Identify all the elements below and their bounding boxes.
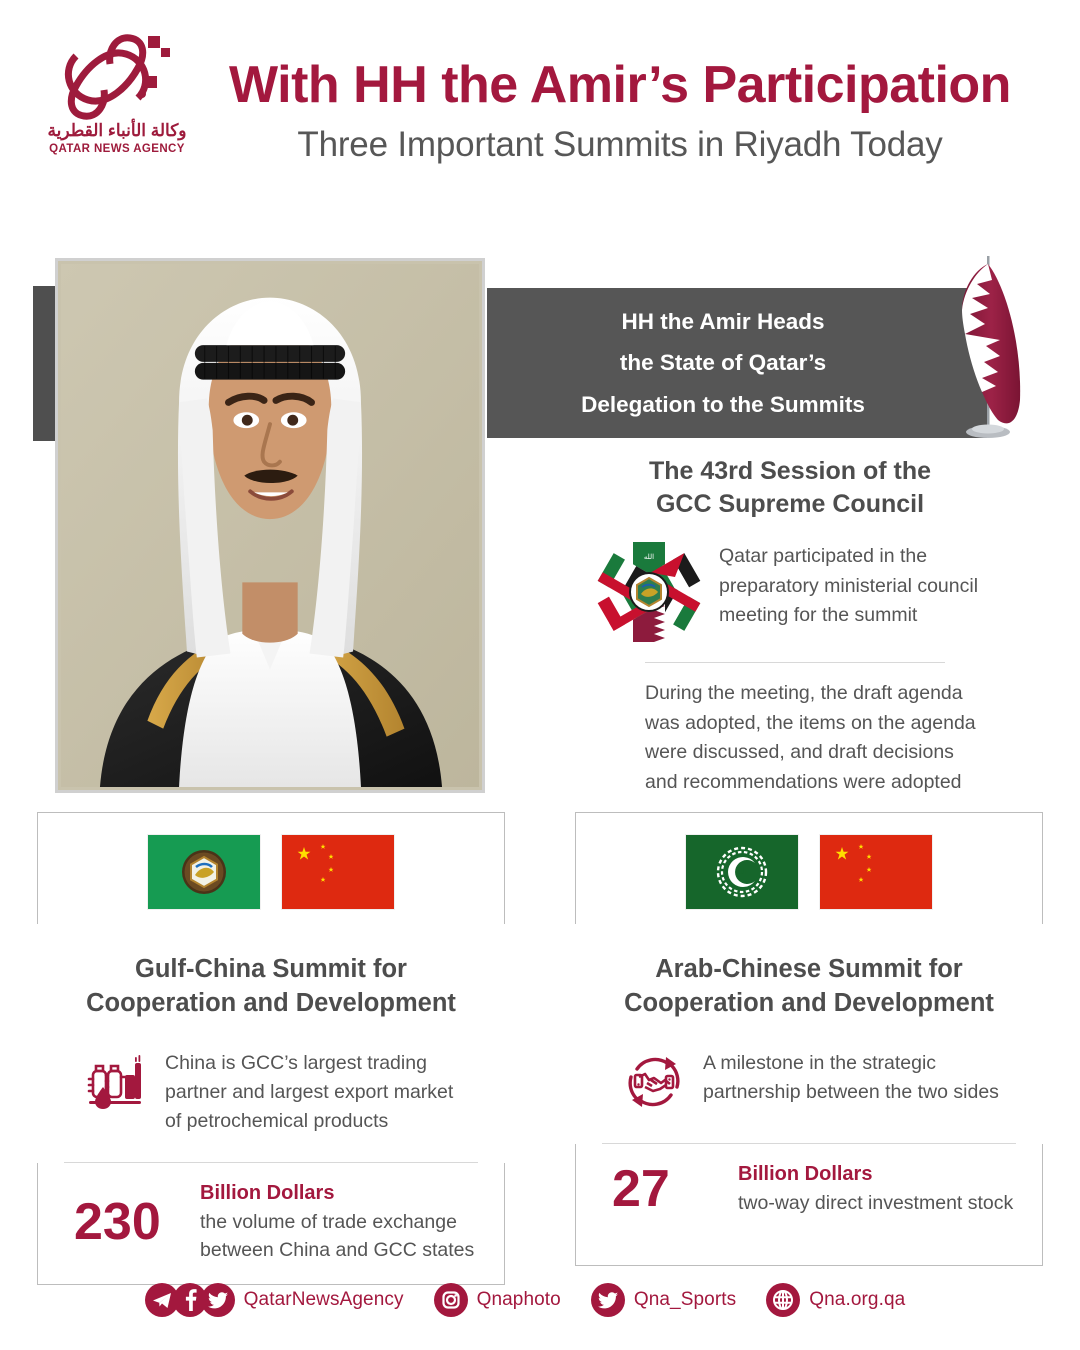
- social-icons: [145, 1283, 235, 1317]
- social-group-sports: Qna_Sports: [591, 1283, 766, 1317]
- card-feature: China is GCC’s largest trading partner a…: [37, 1049, 505, 1137]
- gcc-flag-icon: [148, 835, 260, 909]
- gcc-section-title: The 43rd Session of the GCC Supreme Coun…: [530, 455, 1050, 520]
- arab-league-flag-icon: الله: [686, 835, 798, 909]
- svg-text:الله: الله: [735, 867, 747, 876]
- banner-line-2: the State of Qatar’s: [581, 342, 865, 384]
- gcc-flags-emblem-icon: الله: [595, 538, 703, 646]
- card-top-border-box: [37, 812, 505, 924]
- card-feature-text: China is GCC’s largest trading partner a…: [165, 1049, 469, 1137]
- card-title-line-2: Cooperation and Development: [575, 986, 1043, 1020]
- social-group-website: Qna.org.qa: [766, 1283, 935, 1317]
- card-bottom-border-box: 230 Billion Dollars the volume of trade …: [37, 1163, 505, 1285]
- card-flags: [38, 835, 504, 909]
- twitter-icon[interactable]: [591, 1283, 625, 1317]
- gcc-paragraph: During the meeting, the draft agenda was…: [645, 679, 990, 798]
- page-header: وكالة الأنباء القطرية QATAR NEWS AGENCY …: [0, 0, 1080, 215]
- gcc-divider: [645, 662, 945, 663]
- qna-logo[interactable]: وكالة الأنباء القطرية QATAR NEWS AGENCY: [42, 28, 192, 155]
- card-top-border-box: الله: [575, 812, 1043, 924]
- banner-text: HH the Amir Heads the State of Qatar’s D…: [561, 301, 913, 426]
- page-subtitle: Three Important Summits in Riyadh Today: [200, 125, 1040, 165]
- social-group-instagram: Qnaphoto: [434, 1283, 591, 1317]
- qatar-flag-icon: [930, 250, 1050, 450]
- card-title: Arab-Chinese Summit for Cooperation and …: [575, 952, 1043, 1021]
- stat-label: Billion Dollars: [738, 1162, 1013, 1187]
- qatar-flag: [930, 250, 1050, 450]
- qna-atom-logo-icon: [42, 28, 192, 120]
- handshake-cycle-icon: [623, 1051, 685, 1118]
- instagram-icon[interactable]: [434, 1283, 468, 1317]
- social-icons: [766, 1283, 800, 1317]
- globe-icon[interactable]: [766, 1283, 800, 1317]
- card-bottom-border-box: 27 Billion Dollars two-way direct invest…: [575, 1144, 1043, 1266]
- stat-row: 27 Billion Dollars two-way direct invest…: [576, 1144, 1042, 1217]
- social-handle-qnaphoto[interactable]: Qnaphoto: [477, 1289, 561, 1311]
- stat-description: the volume of trade exchange between Chi…: [200, 1208, 480, 1265]
- stat-divider: [64, 1162, 478, 1163]
- stat-number: 27: [612, 1163, 716, 1215]
- stat-row: 230 Billion Dollars the volume of trade …: [38, 1163, 504, 1265]
- card-title-line-1: Gulf-China Summit for: [37, 952, 505, 986]
- summit-card-arab-chinese: الله Arab-Chinese Summit for Coope: [575, 812, 1043, 1285]
- card-title: Gulf-China Summit for Cooperation and De…: [37, 952, 505, 1021]
- gcc-title-line-1: The 43rd Session of the: [558, 455, 1022, 488]
- china-flag-icon: [282, 835, 394, 909]
- twitter-icon[interactable]: [201, 1283, 235, 1317]
- social-handle-qna-sports[interactable]: Qna_Sports: [634, 1289, 736, 1311]
- title-block: With HH the Amir’s Participation Three I…: [200, 58, 1040, 165]
- china-flag-icon: [820, 835, 932, 909]
- card-feature-text: A milestone in the strategic partnership…: [703, 1049, 1007, 1108]
- social-icons: [434, 1283, 468, 1317]
- stat-divider: [602, 1143, 1016, 1144]
- amir-heads-delegation-banner: HH the Amir Heads the State of Qatar’s D…: [487, 288, 987, 438]
- card-title-line-2: Cooperation and Development: [37, 986, 505, 1020]
- amir-portrait-frame: [55, 258, 485, 793]
- stat-description: two-way direct investment stock: [738, 1189, 1013, 1217]
- logo-arabic-name: وكالة الأنباء القطرية: [42, 122, 192, 141]
- gcc-title-line-2: GCC Supreme Council: [558, 488, 1022, 521]
- logo-english-name: QATAR NEWS AGENCY: [42, 143, 192, 155]
- gcc-supreme-council-section: The 43rd Session of the GCC Supreme Coun…: [530, 455, 1050, 798]
- banner-line-1: HH the Amir Heads: [581, 301, 865, 343]
- card-title-line-1: Arab-Chinese Summit for: [575, 952, 1043, 986]
- social-footer: QatarNewsAgency Qnaphoto Qna_Sports Qna.…: [0, 1283, 1080, 1317]
- summit-card-gulf-china: Gulf-China Summit for Cooperation and De…: [37, 812, 505, 1285]
- svg-text:الله: الله: [644, 553, 654, 561]
- stat-number: 230: [74, 1196, 178, 1248]
- social-handle-qatarnewsagency[interactable]: QatarNewsAgency: [244, 1289, 404, 1311]
- card-feature: A milestone in the strategic partnership…: [575, 1049, 1043, 1118]
- stat-label: Billion Dollars: [200, 1181, 480, 1206]
- social-group-main: QatarNewsAgency: [145, 1283, 434, 1317]
- card-flags: الله: [576, 835, 1042, 909]
- amir-portrait: [61, 264, 479, 787]
- social-handle-website[interactable]: Qna.org.qa: [809, 1289, 905, 1311]
- page-title: With HH the Amir’s Participation: [200, 58, 1040, 113]
- social-icons: [591, 1283, 625, 1317]
- summit-cards: Gulf-China Summit for Cooperation and De…: [0, 812, 1080, 1285]
- banner-line-3: Delegation to the Summits: [581, 384, 865, 426]
- gcc-note-text: Qatar participated in the preparatory mi…: [719, 542, 1018, 631]
- petrochemical-icon: [85, 1051, 147, 1118]
